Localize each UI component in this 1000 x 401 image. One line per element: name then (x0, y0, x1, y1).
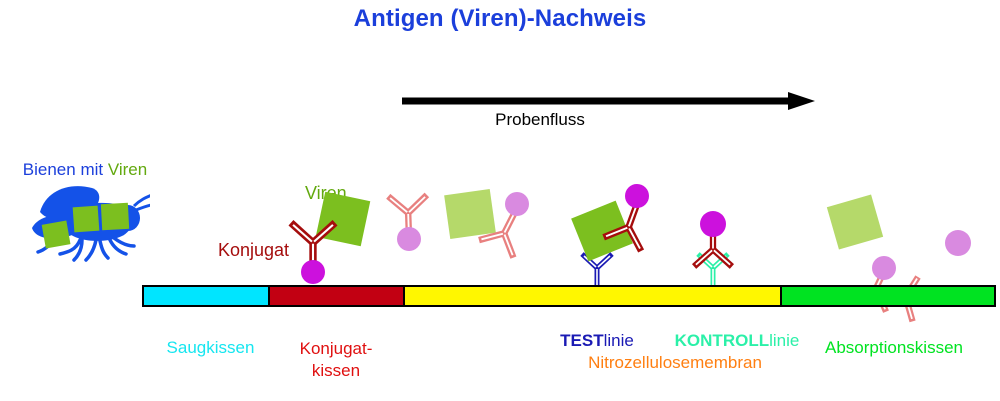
sample-label: Bienen mit Viren (0, 160, 170, 180)
label-control-line-bold: KONTROLL (675, 331, 769, 350)
free-labeled-antibody-2 (881, 230, 971, 321)
virus-callout-label: Viren (305, 183, 347, 204)
flow-direction-label: Probenfluss (400, 110, 680, 130)
label-conjugate-pad-line2: kissen (268, 360, 404, 382)
label-test-line-thin: linie (604, 331, 634, 350)
page-title: Antigen (Viren)-Nachweis (0, 5, 1000, 33)
label-test-line-bold: TEST (560, 331, 603, 350)
label-absorption-pad: Absorptionskissen (790, 338, 998, 358)
bee-icon (10, 182, 150, 267)
right-arrow-icon (400, 92, 815, 110)
lateral-flow-strip (142, 285, 996, 307)
free-labeled-antibody-1 (388, 195, 428, 251)
conjugate-callout-label: Konjugat (218, 240, 289, 261)
strip-segment-nitrocellulose (403, 287, 780, 305)
test-line-complex (571, 184, 656, 288)
control-line-complex (694, 211, 732, 288)
strip-segment-sample-pad (144, 287, 268, 305)
label-sample-pad: Saugkissen (148, 338, 273, 358)
diagram-canvas: Antigen (Viren)-Nachweis Probenfluss Bie… (0, 0, 1000, 401)
label-conjugate-pad-line1: Konjugat- (268, 338, 404, 360)
strip-segment-conjugate-pad (268, 287, 403, 305)
sample-label-suffix: Viren (108, 160, 147, 179)
conjugate-pad-complex (291, 192, 370, 284)
virus-antibody-complex-1 (444, 189, 532, 258)
strip-segment-absorption-pad (780, 287, 994, 305)
label-conjugate-pad: Konjugat- kissen (268, 338, 404, 382)
label-test-line: TESTlinie (532, 331, 662, 351)
sample-label-prefix: Bienen mit (23, 160, 108, 179)
label-nitrocellulose-membrane: Nitrozellulosemembran (530, 353, 820, 373)
